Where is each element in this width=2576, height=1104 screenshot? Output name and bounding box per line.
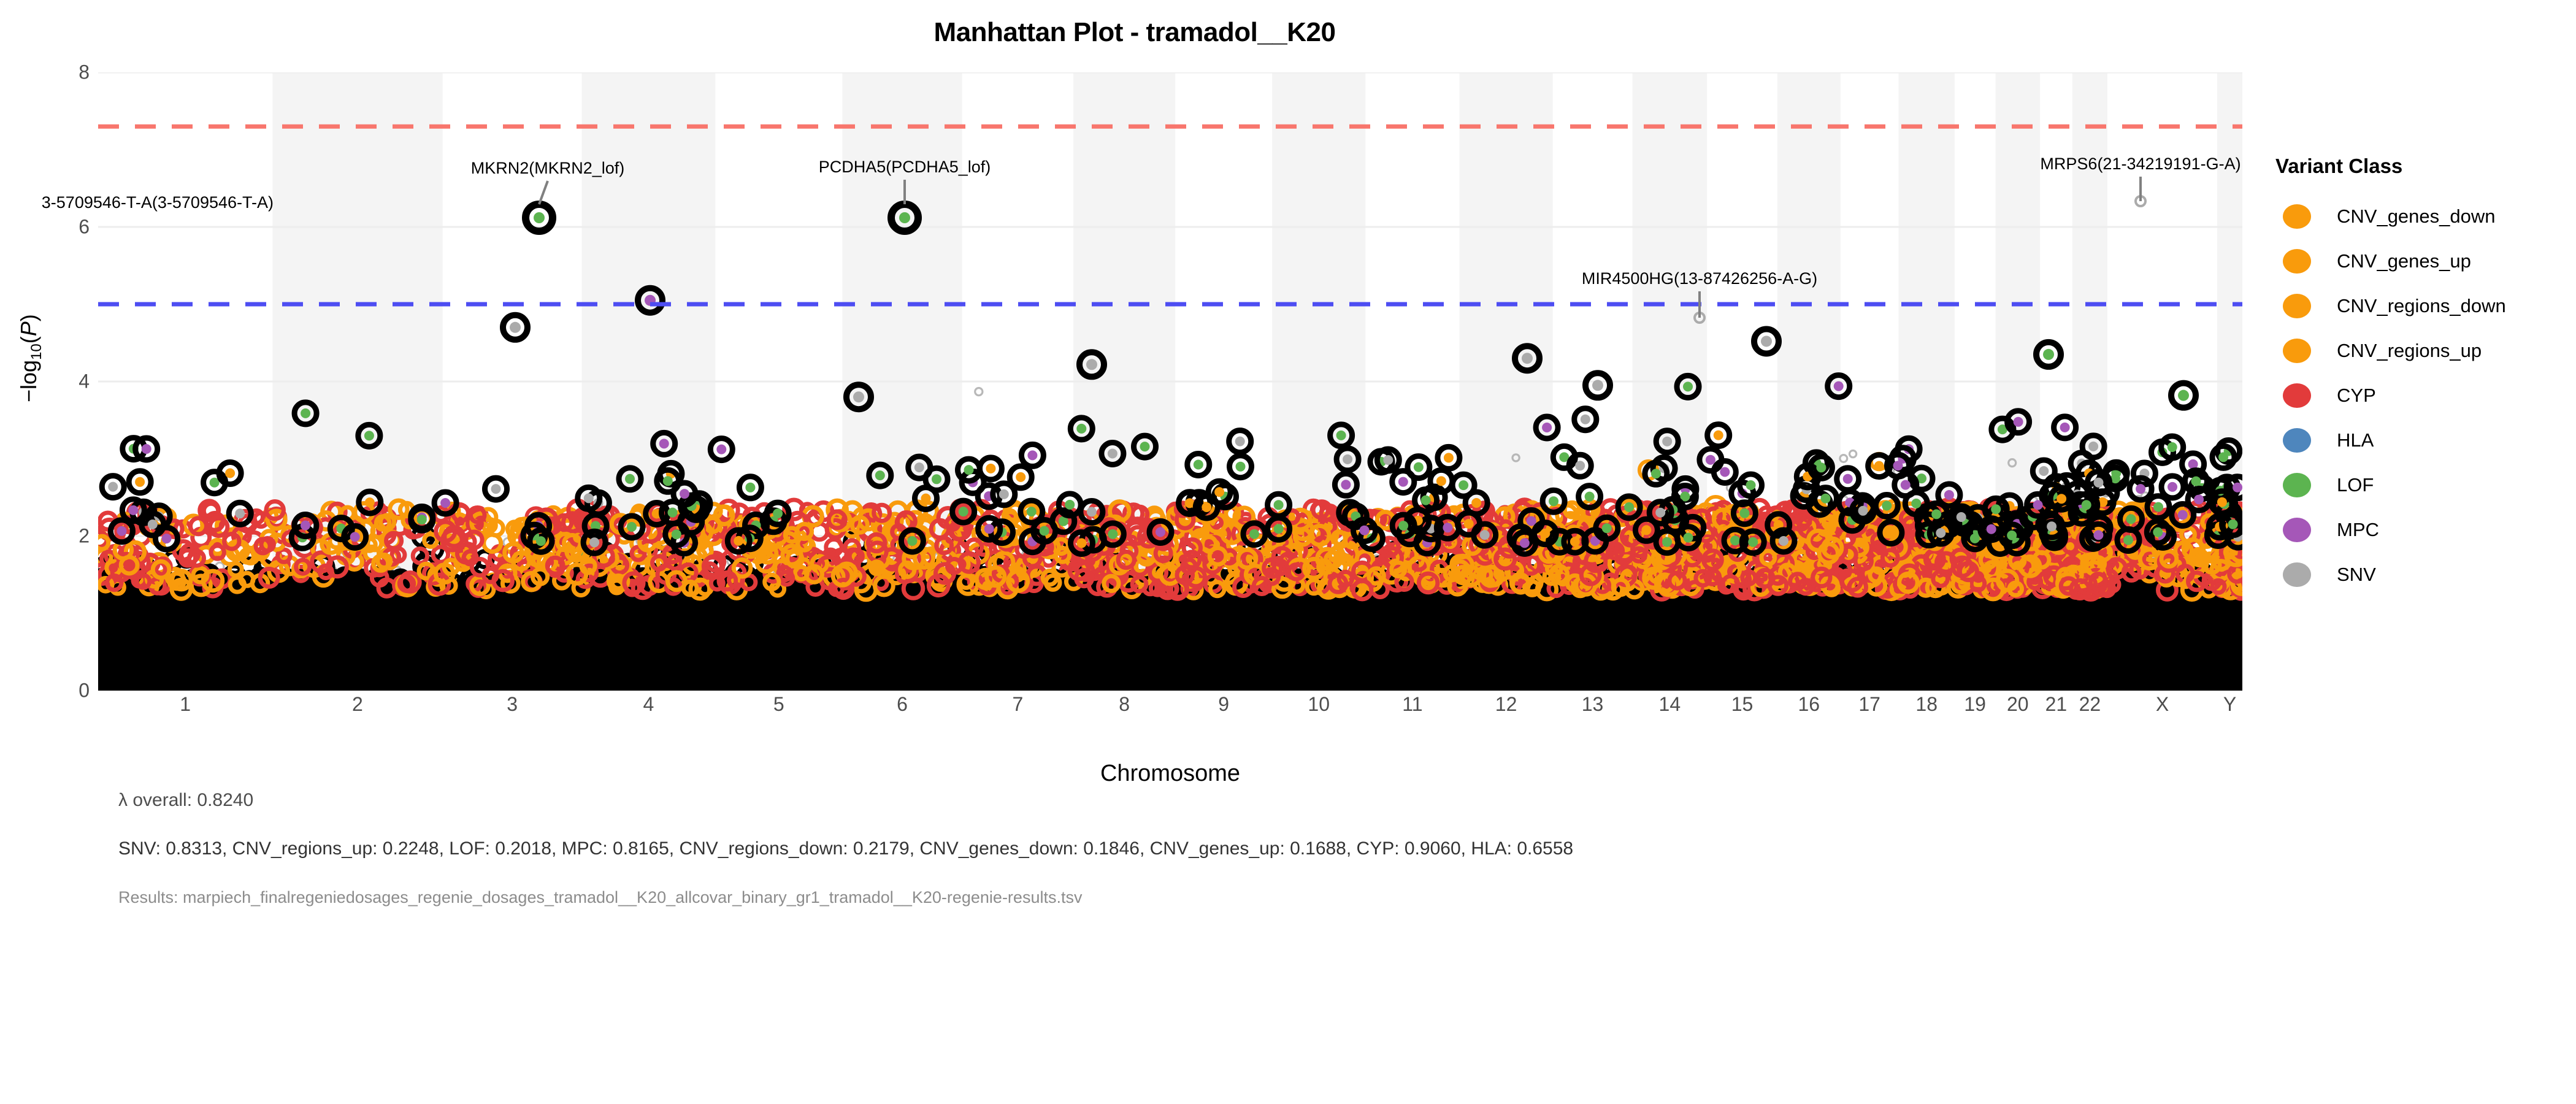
legend-swatch-icon	[2283, 428, 2311, 453]
legend-swatch-icon	[2283, 294, 2311, 318]
legend-swatch-icon	[2283, 473, 2311, 497]
manhattan-plot-page: Manhattan Plot - tramadol__K20 −log10(P)…	[0, 0, 2576, 1104]
x-tick-label-chr-12: 12	[1495, 693, 1517, 716]
legend-item-cnv_regions_up[interactable]: CNV_regions_up	[2269, 328, 2576, 373]
y-axis-tick-labels: 02468	[43, 72, 92, 691]
y-tick-label: 2	[79, 525, 90, 548]
legend: Variant Class CNV_genes_downCNV_genes_up…	[2269, 155, 2576, 597]
y-tick-label: 6	[79, 216, 90, 239]
legend-items: CNV_genes_downCNV_genes_upCNV_regions_do…	[2269, 194, 2576, 597]
page-title: Manhattan Plot - tramadol__K20	[0, 17, 2269, 48]
legend-item-cnv_genes_up[interactable]: CNV_genes_up	[2269, 239, 2576, 283]
legend-item-label: LOF	[2337, 474, 2374, 496]
y-axis-title-var: P	[16, 321, 41, 336]
legend-item-cnv_genes_down[interactable]: CNV_genes_down	[2269, 194, 2576, 239]
legend-item-label: SNV	[2337, 564, 2376, 586]
x-tick-label-chr-16: 16	[1798, 693, 1820, 716]
legend-item-label: CNV_regions_down	[2337, 295, 2506, 317]
y-axis-title-prefix: −log	[16, 360, 41, 402]
x-axis-title: Chromosome	[98, 761, 2242, 787]
legend-item-cnv_regions_down[interactable]: CNV_regions_down	[2269, 283, 2576, 328]
lambda-overall-text: λ overall: 0.8240	[118, 790, 253, 811]
plot-panel	[98, 72, 2242, 691]
results-file-text: Results: marpiech_finalregeniedosages_re…	[118, 888, 1082, 907]
legend-item-label: CNV_genes_down	[2337, 205, 2496, 228]
x-tick-label-chr-8: 8	[1119, 693, 1130, 716]
legend-item-lof[interactable]: LOF	[2269, 462, 2576, 507]
x-tick-label-chr-14: 14	[1659, 693, 1681, 716]
x-tick-label-chr-18: 18	[1915, 693, 1938, 716]
x-tick-label-chr-9: 9	[1218, 693, 1229, 716]
x-tick-label-chr-21: 21	[2045, 693, 2068, 716]
legend-item-label: CYP	[2337, 385, 2376, 407]
legend-item-label: CNV_regions_up	[2337, 340, 2482, 362]
legend-item-label: MPC	[2337, 519, 2379, 541]
y-tick-label: 8	[79, 61, 90, 84]
legend-item-snv[interactable]: SNV	[2269, 552, 2576, 597]
legend-swatch-icon	[2283, 204, 2311, 229]
x-tick-label-chr-7: 7	[1012, 693, 1023, 716]
x-tick-label-chr-6: 6	[897, 693, 908, 716]
annotation-label: MKRN2(MKRN2_lof)	[471, 159, 625, 178]
x-tick-label-chr-11: 11	[1402, 693, 1422, 716]
legend-item-mpc[interactable]: MPC	[2269, 507, 2576, 552]
annotation-label: 3-5709546-T-A(3-5709546-T-A)	[42, 193, 274, 212]
legend-swatch-icon	[2283, 518, 2311, 542]
legend-item-cyp[interactable]: CYP	[2269, 373, 2576, 418]
x-tick-label-chr-X: X	[2156, 693, 2169, 716]
legend-swatch-icon	[2283, 249, 2311, 274]
x-tick-label-chr-Y: Y	[2223, 693, 2236, 716]
legend-title: Variant Class	[2269, 155, 2576, 178]
legend-item-hla[interactable]: HLA	[2269, 418, 2576, 462]
x-tick-label-chr-22: 22	[2079, 693, 2101, 716]
x-tick-label-chr-15: 15	[1731, 693, 1754, 716]
legend-swatch-icon	[2283, 562, 2311, 587]
x-tick-label-chr-13: 13	[1582, 693, 1604, 716]
y-tick-label: 0	[79, 680, 90, 702]
x-tick-label-chr-1: 1	[180, 693, 191, 716]
annotation-label: MRPS6(21-34219191-G-A)	[2040, 155, 2241, 174]
legend-item-label: CNV_genes_up	[2337, 250, 2471, 272]
x-tick-label-chr-2: 2	[352, 693, 363, 716]
x-tick-label-chr-5: 5	[773, 693, 784, 716]
lambda-breakdown-text: SNV: 0.8313, CNV_regions_up: 0.2248, LOF…	[118, 838, 1573, 859]
x-tick-label-chr-17: 17	[1858, 693, 1880, 716]
y-tick-label: 4	[79, 370, 90, 393]
annotation-label: MIR4500HG(13-87426256-A-G)	[1582, 269, 1817, 288]
x-tick-label-chr-3: 3	[507, 693, 518, 716]
legend-swatch-icon	[2283, 383, 2311, 408]
x-tick-label-chr-4: 4	[643, 693, 654, 716]
legend-item-label: HLA	[2337, 429, 2374, 451]
x-tick-label-chr-10: 10	[1308, 693, 1330, 716]
x-tick-label-chr-20: 20	[2007, 693, 2029, 716]
annotation-label: PCDHA5(PCDHA5_lof)	[819, 158, 991, 177]
x-axis-tick-labels: 12345678910111213141516171819202122XY	[98, 693, 2242, 727]
x-tick-label-chr-19: 19	[1964, 693, 1986, 716]
legend-swatch-icon	[2283, 339, 2311, 363]
scatter-canvas	[98, 72, 2242, 691]
